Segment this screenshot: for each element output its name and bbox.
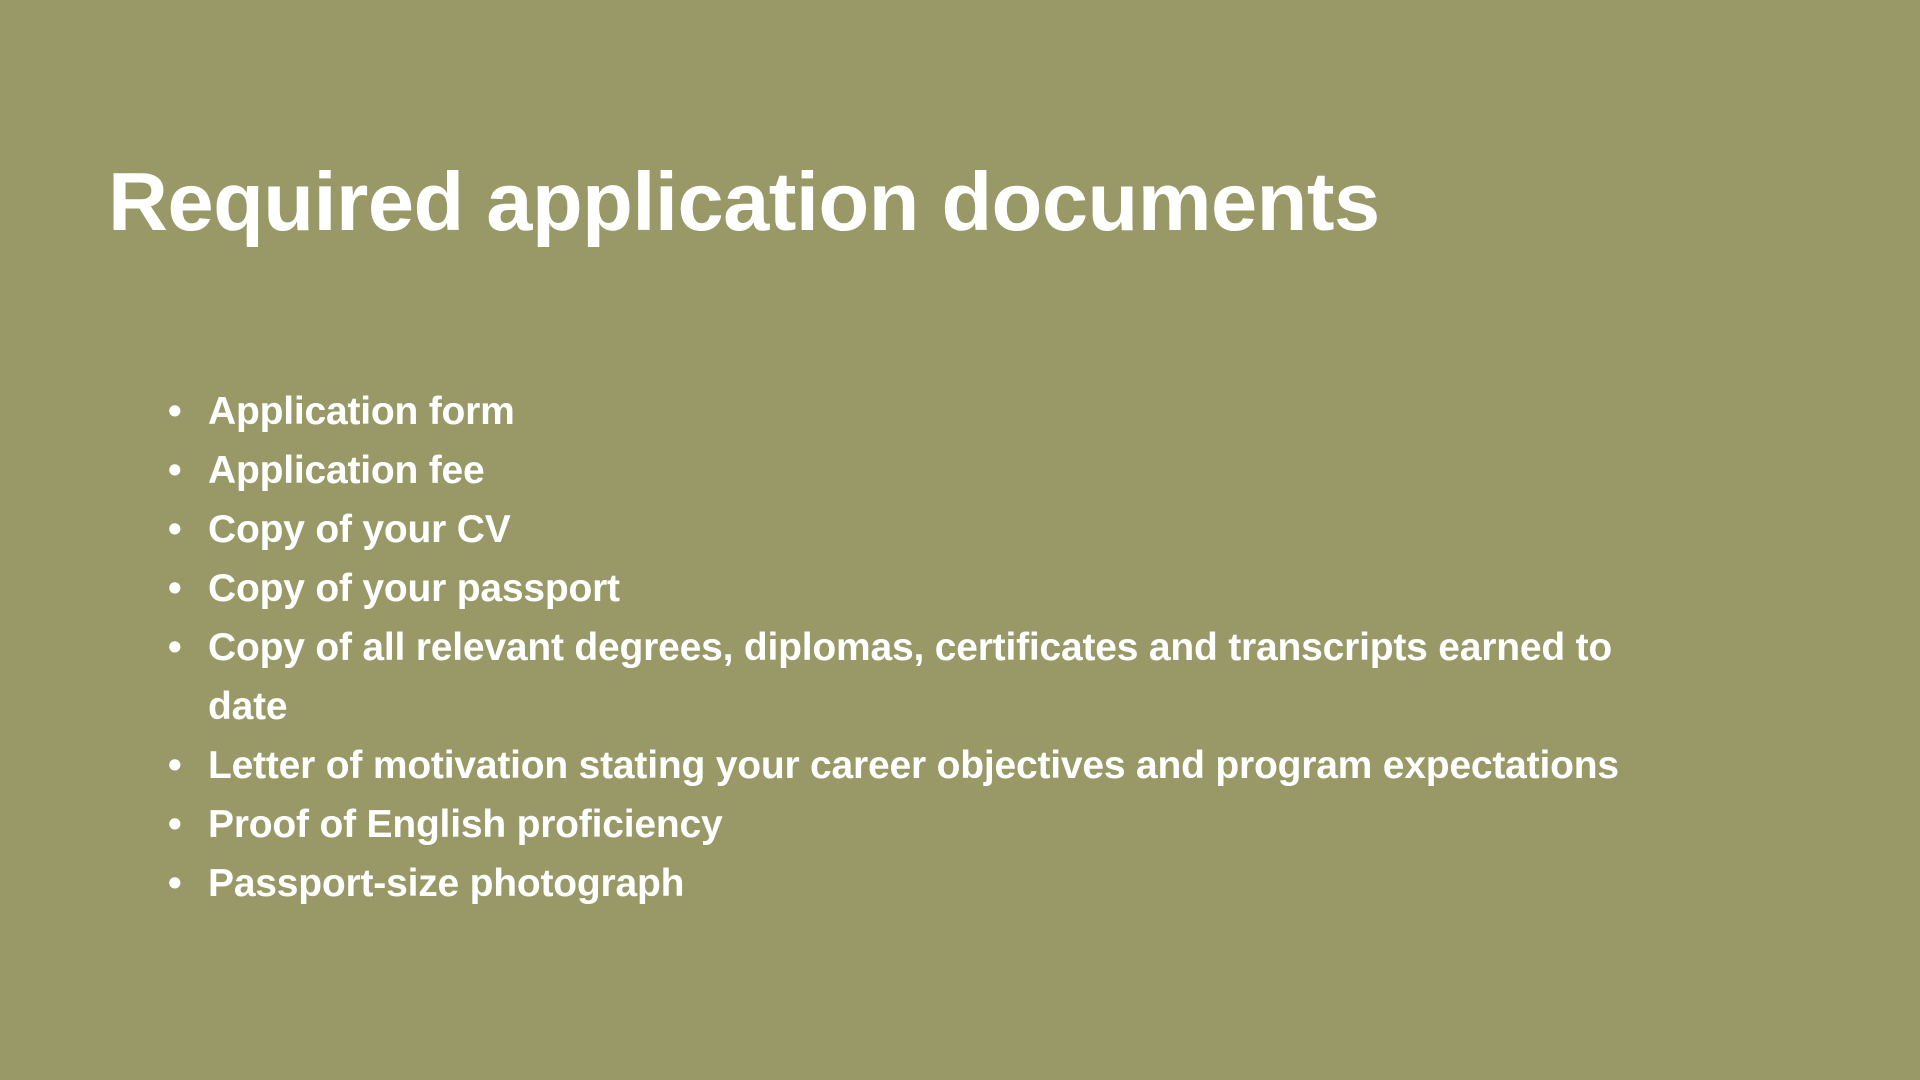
bullet-point-icon: • [168, 618, 196, 677]
list-item: • Application fee [162, 441, 1722, 500]
list-item: • Copy of your CV [162, 500, 1722, 559]
list-item: • Copy of all relevant degrees, diplomas… [162, 618, 1722, 736]
bullet-point-icon: • [168, 795, 196, 854]
page-title: Required application documents [108, 158, 1808, 246]
list-item: • Proof of English proficiency [162, 795, 1722, 854]
list-item-label: Passport-size photograph [208, 854, 1722, 913]
list-item-label: Copy of all relevant degrees, diplomas, … [208, 618, 1648, 736]
list-item-label: Copy of your CV [208, 500, 1722, 559]
bullet-point-icon: • [168, 559, 196, 618]
list-item: • Letter of motivation stating your care… [162, 736, 1722, 795]
bullet-point-icon: • [168, 736, 196, 795]
list-item: • Application form [162, 382, 1722, 441]
list-item: • Passport-size photograph [162, 854, 1722, 913]
list-item-label: Application fee [208, 441, 1722, 500]
bullet-point-icon: • [168, 441, 196, 500]
list-item-label: Copy of your passport [208, 559, 1722, 618]
list-item: • Copy of your passport [162, 559, 1722, 618]
bullet-point-icon: • [168, 854, 196, 913]
list-item-label: Proof of English proficiency [208, 795, 1722, 854]
list-item-label: Letter of motivation stating your career… [208, 736, 1648, 795]
presentation-slide: Required application documents • Applica… [0, 0, 1920, 1080]
required-documents-list: • Application form • Application fee • C… [162, 382, 1722, 913]
list-item-label: Application form [208, 382, 1722, 441]
bullet-point-icon: • [168, 382, 196, 441]
bullet-point-icon: • [168, 500, 196, 559]
